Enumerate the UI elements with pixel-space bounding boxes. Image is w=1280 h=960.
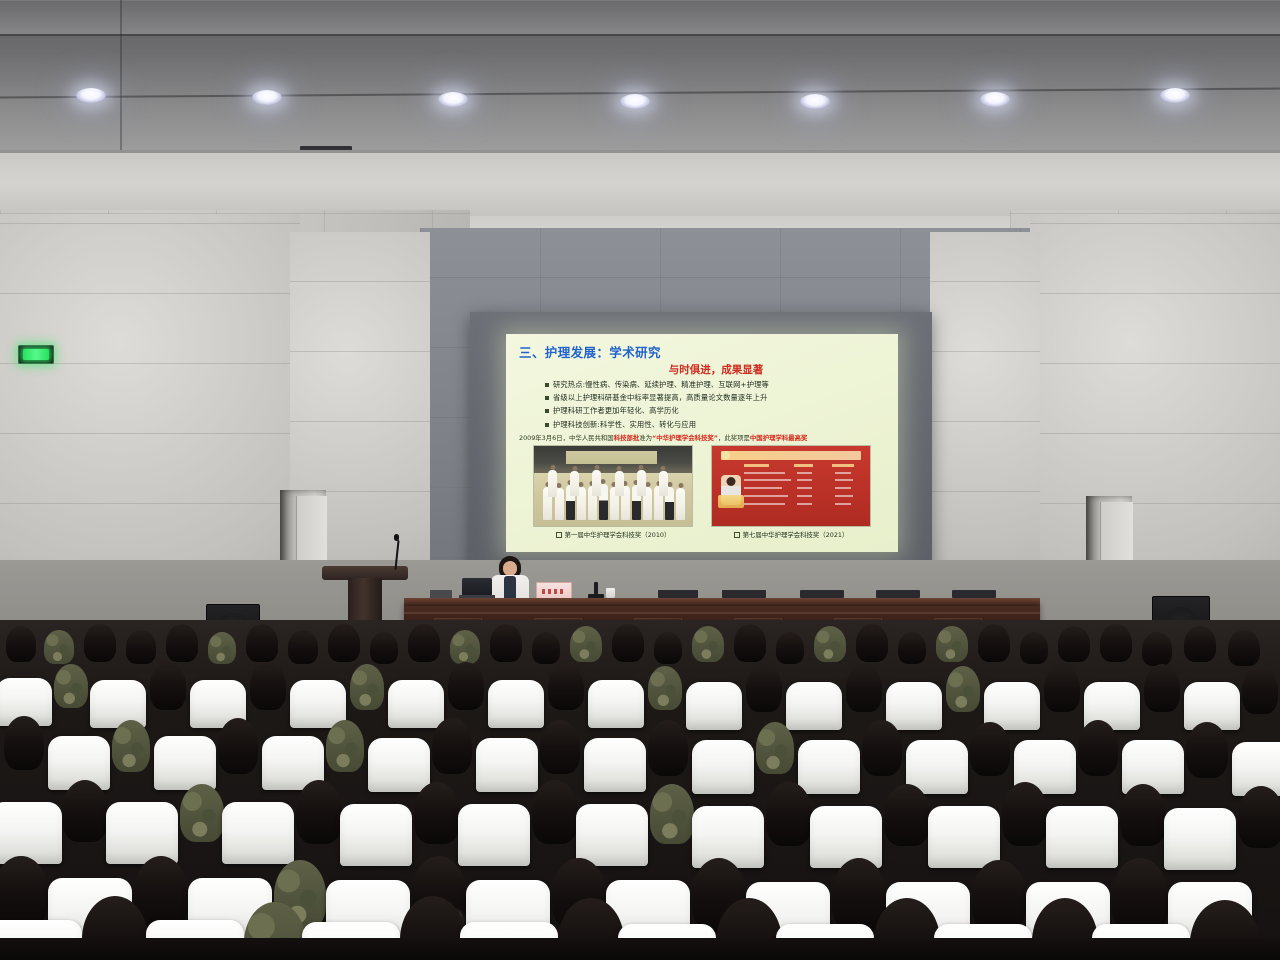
attendee [448,662,484,710]
seat [476,738,538,792]
attendee [1184,626,1216,662]
slide-photo-first-award: 第一届中华护理学会科技奖（2010） [533,445,693,539]
attendee [648,666,682,710]
seat [928,806,1000,868]
exit-sign-icon [18,345,54,364]
attendee [540,720,580,774]
attendee [350,664,384,710]
seat [222,802,294,864]
attendee [84,624,116,662]
attendee [1142,632,1172,666]
attendee [884,784,930,846]
attendee [650,784,694,844]
attendee [936,626,968,662]
laptop [462,578,492,600]
slide-note: 2009年3月6日，中华人民共和国科技部批准为“中华护理学会科技奖”，此奖项是中… [519,433,889,442]
attendee [756,722,794,774]
slide-photo-row: 第一届中华护理学会科技奖（2010） [515,445,889,539]
attendee [166,624,198,662]
seat [692,740,754,794]
attendee [408,624,440,662]
seat [154,736,216,790]
attendee [208,632,236,664]
downlight-icon [1160,88,1190,103]
seat [388,680,444,728]
seat [1122,740,1184,794]
attendee [846,664,882,712]
slide-bullet: 护理科研工作者更加年轻化、高学历化 [545,406,889,416]
attendee [218,718,258,774]
attendee [898,632,926,664]
attendee [766,782,812,846]
attendee [1120,784,1166,846]
attendee [1044,664,1080,712]
downlight-icon [76,88,106,103]
seat [798,740,860,794]
attendee [612,624,644,662]
table-item-doc [800,590,844,598]
attendee [150,662,186,710]
downlight-icon [800,94,830,109]
attendee [126,630,156,664]
seat [576,804,648,866]
slide-bullet: 护理科技创新:科学性、实用性、转化与应用 [545,420,889,430]
attendee [432,718,472,774]
table-item-doc [876,590,920,598]
attendee [548,664,584,710]
seat [810,806,882,868]
slide-photo-caption: 第七届中华护理学会科技奖（2021） [711,530,871,539]
attendee [1186,722,1228,778]
attendee [1020,632,1048,664]
attendee [180,784,224,842]
slide-bullet: 省级以上护理科研基金中标率显著提高，高质量论文数量逐年上升 [545,393,889,403]
ceiling [0,0,1280,232]
floor [0,938,1280,960]
seat [1164,808,1236,870]
seat [488,680,544,728]
seat [0,802,62,864]
seat [1046,806,1118,868]
attendee [1242,666,1278,714]
seat [106,802,178,864]
attendee [692,626,724,662]
slide-bullet-list: 研究热点:慢性病、传染病、延续护理、精准护理、互联网+护理等 省级以上护理科研基… [515,380,889,430]
slide-photo-caption: 第一届中华护理学会科技奖（2010） [533,530,693,539]
seat [686,682,742,730]
attendee [734,624,766,662]
attendee [246,624,278,662]
attendee [1112,858,1168,934]
slide-bullet: 研究热点:慢性病、传染病、延续护理、精准护理、互联网+护理等 [545,380,889,390]
attendee [972,860,1026,932]
attendee [4,716,44,770]
downlight-icon [252,90,282,105]
attendee [490,624,522,662]
audience-area [0,620,1280,960]
slide-surface: 三、护理发展：学术研究 与时俱进，成果显著 研究热点:慢性病、传染病、延续护理、… [506,334,898,552]
attendee [288,630,318,664]
slide-subtitle: 与时俱进，成果显著 [543,362,889,377]
attendee [250,662,286,710]
seat [458,804,530,866]
attendee [62,780,108,842]
attendee [328,624,360,662]
seat [786,682,842,730]
attendee [1144,664,1180,712]
attendee [532,632,560,664]
downlight-icon [980,92,1010,107]
attendee [414,782,460,844]
attendee [112,720,150,772]
attendee [370,632,398,664]
attendee [746,664,782,712]
attendee [1238,786,1280,848]
microphone-head-icon [394,534,399,541]
attendee [1002,782,1048,846]
attendee [570,626,602,662]
auditorium-photo: 三、护理发展：学术研究 与时俱进，成果显著 研究热点:慢性病、传染病、延续护理、… [0,0,1280,960]
attendee [970,722,1010,776]
attendee [648,720,688,776]
attendee [532,780,578,844]
attendee [814,626,846,662]
attendee [450,630,480,664]
attendee [776,632,804,664]
attendee [44,630,74,664]
projection-screen: 三、护理发展：学术研究 与时俱进，成果显著 研究热点:慢性病、传染病、延续护理、… [470,312,932,570]
seat [886,682,942,730]
slide-content: 三、护理发展：学术研究 与时俱进，成果显著 研究热点:慢性病、传染病、延续护理、… [506,334,898,552]
attendee [1100,624,1132,662]
attendee [6,626,36,662]
attendee [54,664,88,708]
attendee [1078,720,1118,776]
attendee [856,624,888,662]
table-item-doc [722,590,766,598]
seat [584,738,646,792]
table-item-doc [952,590,996,598]
seat [368,738,430,792]
downlight-icon [620,94,650,109]
attendee [978,624,1010,662]
seat [340,804,412,866]
attendee [296,780,342,844]
slide-title: 三、护理发展：学术研究 [519,342,889,361]
seat [692,806,764,868]
attendee [326,720,364,772]
attendee [0,856,48,928]
attendee [862,720,902,776]
slide-photo-seventh-award: 第七届中华护理学会科技奖（2021） [711,445,871,539]
attendee [654,632,682,664]
downlight-icon [438,92,468,107]
attendee [946,666,980,712]
attendee [1228,630,1260,666]
table-item-doc [658,590,698,598]
attendee [1058,626,1090,662]
seat [588,680,644,728]
